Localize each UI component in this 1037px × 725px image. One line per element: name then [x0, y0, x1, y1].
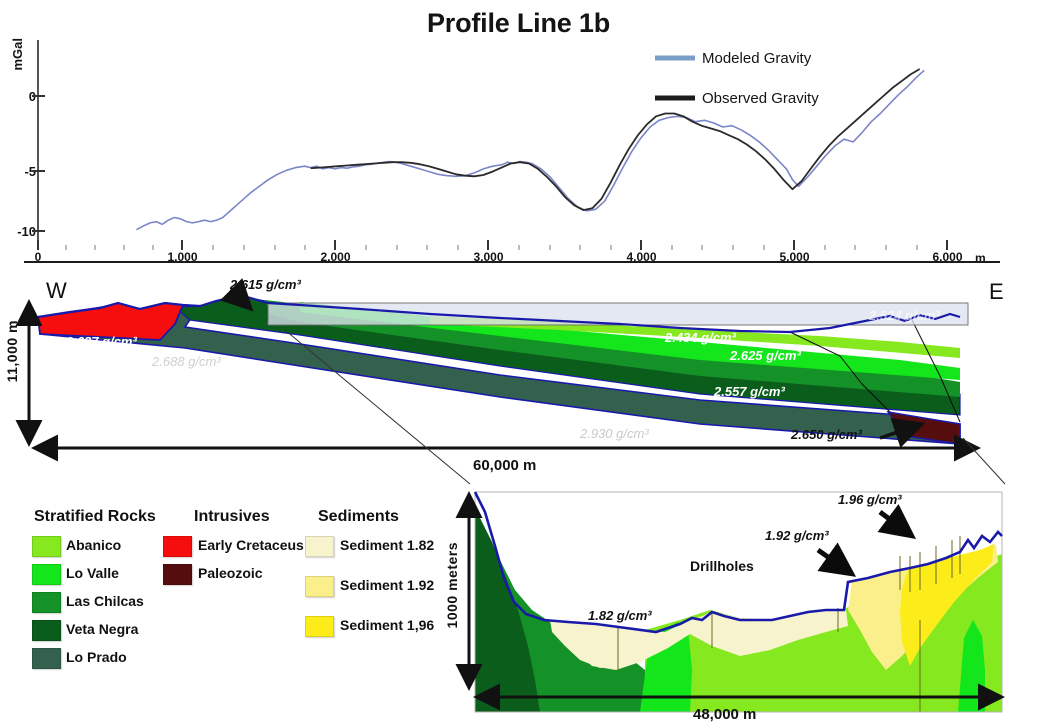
- density-label-2524: 2.524 g/cm³: [869, 308, 940, 323]
- inset-density-label-196: 1.96 g/cm³: [838, 492, 902, 507]
- density-label-2637: 2.637 g/cm³: [66, 334, 137, 349]
- map-legend: Stratified Rocks Intrusives Sediments Ab…: [28, 500, 448, 690]
- direction-label-west: W: [46, 278, 67, 304]
- legend-label-sediment-182: Sediment 1.82: [340, 537, 434, 553]
- density-label-faint-middle: 2.930 g/cm³: [580, 426, 649, 441]
- legend-label-sediment-192: Sediment 1.92: [340, 577, 434, 593]
- inset-svg: [440, 470, 1037, 725]
- inset-annotation-arrow-192: [818, 550, 852, 574]
- inset-horizontal-scale-label: 48,000 m: [693, 706, 756, 723]
- density-label-2650: 2.650 g/cm³: [791, 427, 862, 442]
- legend-swatch-sediment-196: [305, 616, 334, 637]
- legend-label-lo-prado: Lo Prado: [66, 649, 127, 665]
- legend-heading-stratified-rocks: Stratified Rocks: [34, 508, 156, 526]
- cross-section-svg: [0, 272, 1037, 487]
- vertical-scale-label: 11,000 m: [4, 320, 20, 382]
- legend-label-paleozoic: Paleozoic: [198, 565, 263, 581]
- inset-annotation-arrow-196: [880, 512, 912, 536]
- legend-label-lo-valle: Lo Valle: [66, 565, 119, 581]
- series-line-modeled-gravity: [137, 70, 925, 229]
- legend-swatch-paleozoic: [163, 564, 192, 585]
- inset-vertical-scale-label: 1000 meters: [444, 542, 460, 628]
- density-label-2434: 2.434 g/cm³: [665, 330, 736, 345]
- legend-heading-sediments: Sediments: [318, 508, 399, 526]
- density-label-2557: 2.557 g/cm³: [714, 384, 785, 399]
- drillholes-label: Drillholes: [690, 558, 754, 574]
- legend-swatch-las-chilcas: [32, 592, 61, 613]
- figure-canvas: Profile Line 1b mGal 0 -5 -10 0 1,000 2,…: [0, 0, 1037, 725]
- legend-swatch-early-cretaceus: [163, 536, 192, 557]
- density-label-2625: 2.625 g/cm³: [730, 348, 801, 363]
- inset-detail-panel: 1000 meters 48,000 m Drillholes 1.82 g/c…: [440, 470, 1037, 725]
- legend-label-sediment-196: Sediment 1,96: [340, 617, 434, 633]
- legend-swatch-abanico: [32, 536, 61, 557]
- inset-density-label-182: 1.82 g/cm³: [588, 608, 652, 623]
- x-minor-ticks: [66, 245, 917, 250]
- legend-heading-intrusives: Intrusives: [194, 508, 270, 526]
- legend-label-abanico: Abanico: [66, 537, 121, 553]
- direction-label-east: E: [989, 279, 1004, 305]
- legend-swatch-sediment-182: [305, 536, 334, 557]
- legend-swatch-lo-prado: [32, 648, 61, 669]
- x-major-ticks: [38, 240, 947, 250]
- legend-label-veta-negra: Veta Negra: [66, 621, 138, 637]
- density-label-2615: 2.615 g/cm³: [230, 277, 301, 292]
- legend-swatch-lo-valle: [32, 564, 61, 585]
- gravity-chart: Profile Line 1b mGal 0 -5 -10 0 1,000 2,…: [0, 0, 1037, 278]
- legend-swatch-sediment-192: [305, 576, 334, 597]
- legend-swatch-veta-negra: [32, 620, 61, 641]
- inset-density-label-192: 1.92 g/cm³: [765, 528, 829, 543]
- legend-label-early-cretaceus: Early Cretaceus: [198, 537, 304, 553]
- density-label-faint-west: 2.688 g/cm³: [152, 354, 221, 369]
- gravity-plot-svg: [0, 0, 1037, 278]
- series-line-observed-gravity: [311, 69, 920, 210]
- cross-section-panel: W E 11,000 m 60,000 m 2.637 g/cm³ 2.615 …: [0, 272, 1037, 487]
- legend-label-las-chilcas: Las Chilcas: [66, 593, 144, 609]
- inset-geology: [475, 508, 1002, 712]
